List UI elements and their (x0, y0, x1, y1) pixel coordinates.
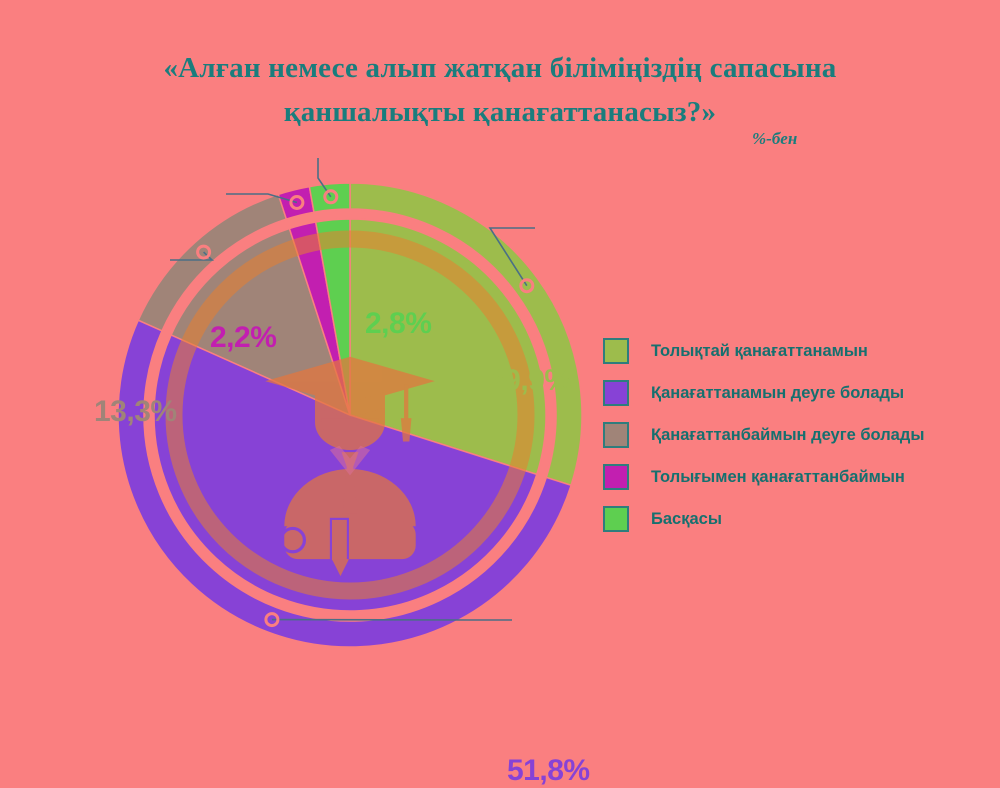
legend-item-1[interactable]: Қанағаттанамын деуге болады (603, 372, 993, 414)
pie-ring-segment[interactable] (309, 183, 350, 212)
chart-title: «Алған немесе алып жатқан біліміңіздің с… (90, 46, 910, 134)
chart-title-line-2: қаншалықты қанағаттанасыз?» (90, 90, 910, 134)
data-label-3: 2,2% (210, 321, 276, 355)
legend-swatch-icon-1 (603, 380, 629, 406)
legend-item-3[interactable]: Толығымен қанағаттанбаймын (603, 456, 993, 498)
legend-swatch-icon-3 (603, 464, 629, 490)
legend-label-1: Қанағаттанамын деуге болады (651, 384, 904, 403)
legend-item-0[interactable]: Толықтай қанағаттанамын (603, 330, 993, 372)
chart-legend: Толықтай қанағаттанамын Қанағаттанамын д… (603, 330, 993, 540)
data-label-0: 29,9% (488, 364, 571, 398)
legend-swatch-icon-0 (603, 338, 629, 364)
legend-item-4[interactable]: Басқасы (603, 498, 993, 540)
legend-label-3: Толығымен қанағаттанбаймын (651, 468, 905, 487)
legend-label-0: Толықтай қанағаттанамын (651, 342, 868, 361)
legend-swatch-icon-2 (603, 422, 629, 448)
legend-swatch-icon-4 (603, 506, 629, 532)
legend-item-2[interactable]: Қанағаттанбаймын деуге болады (603, 414, 993, 456)
chart-title-line-1: «Алған немесе алып жатқан біліміңіздің с… (90, 46, 910, 90)
legend-label-4: Басқасы (651, 510, 722, 529)
infographic-canvas: «Алған немесе алып жатқан біліміңіздің с… (0, 0, 1000, 692)
data-label-1: 51,8% (507, 754, 590, 788)
data-label-2: 13,3% (94, 395, 177, 429)
legend-label-2: Қанағаттанбаймын деуге болады (651, 426, 924, 445)
pie-chart: 29,9% 51,8% 13,3% 2,2% 2,8% (20, 150, 600, 680)
data-label-4: 2,8% (365, 307, 431, 341)
chart-units-label: %-бен (752, 129, 797, 149)
